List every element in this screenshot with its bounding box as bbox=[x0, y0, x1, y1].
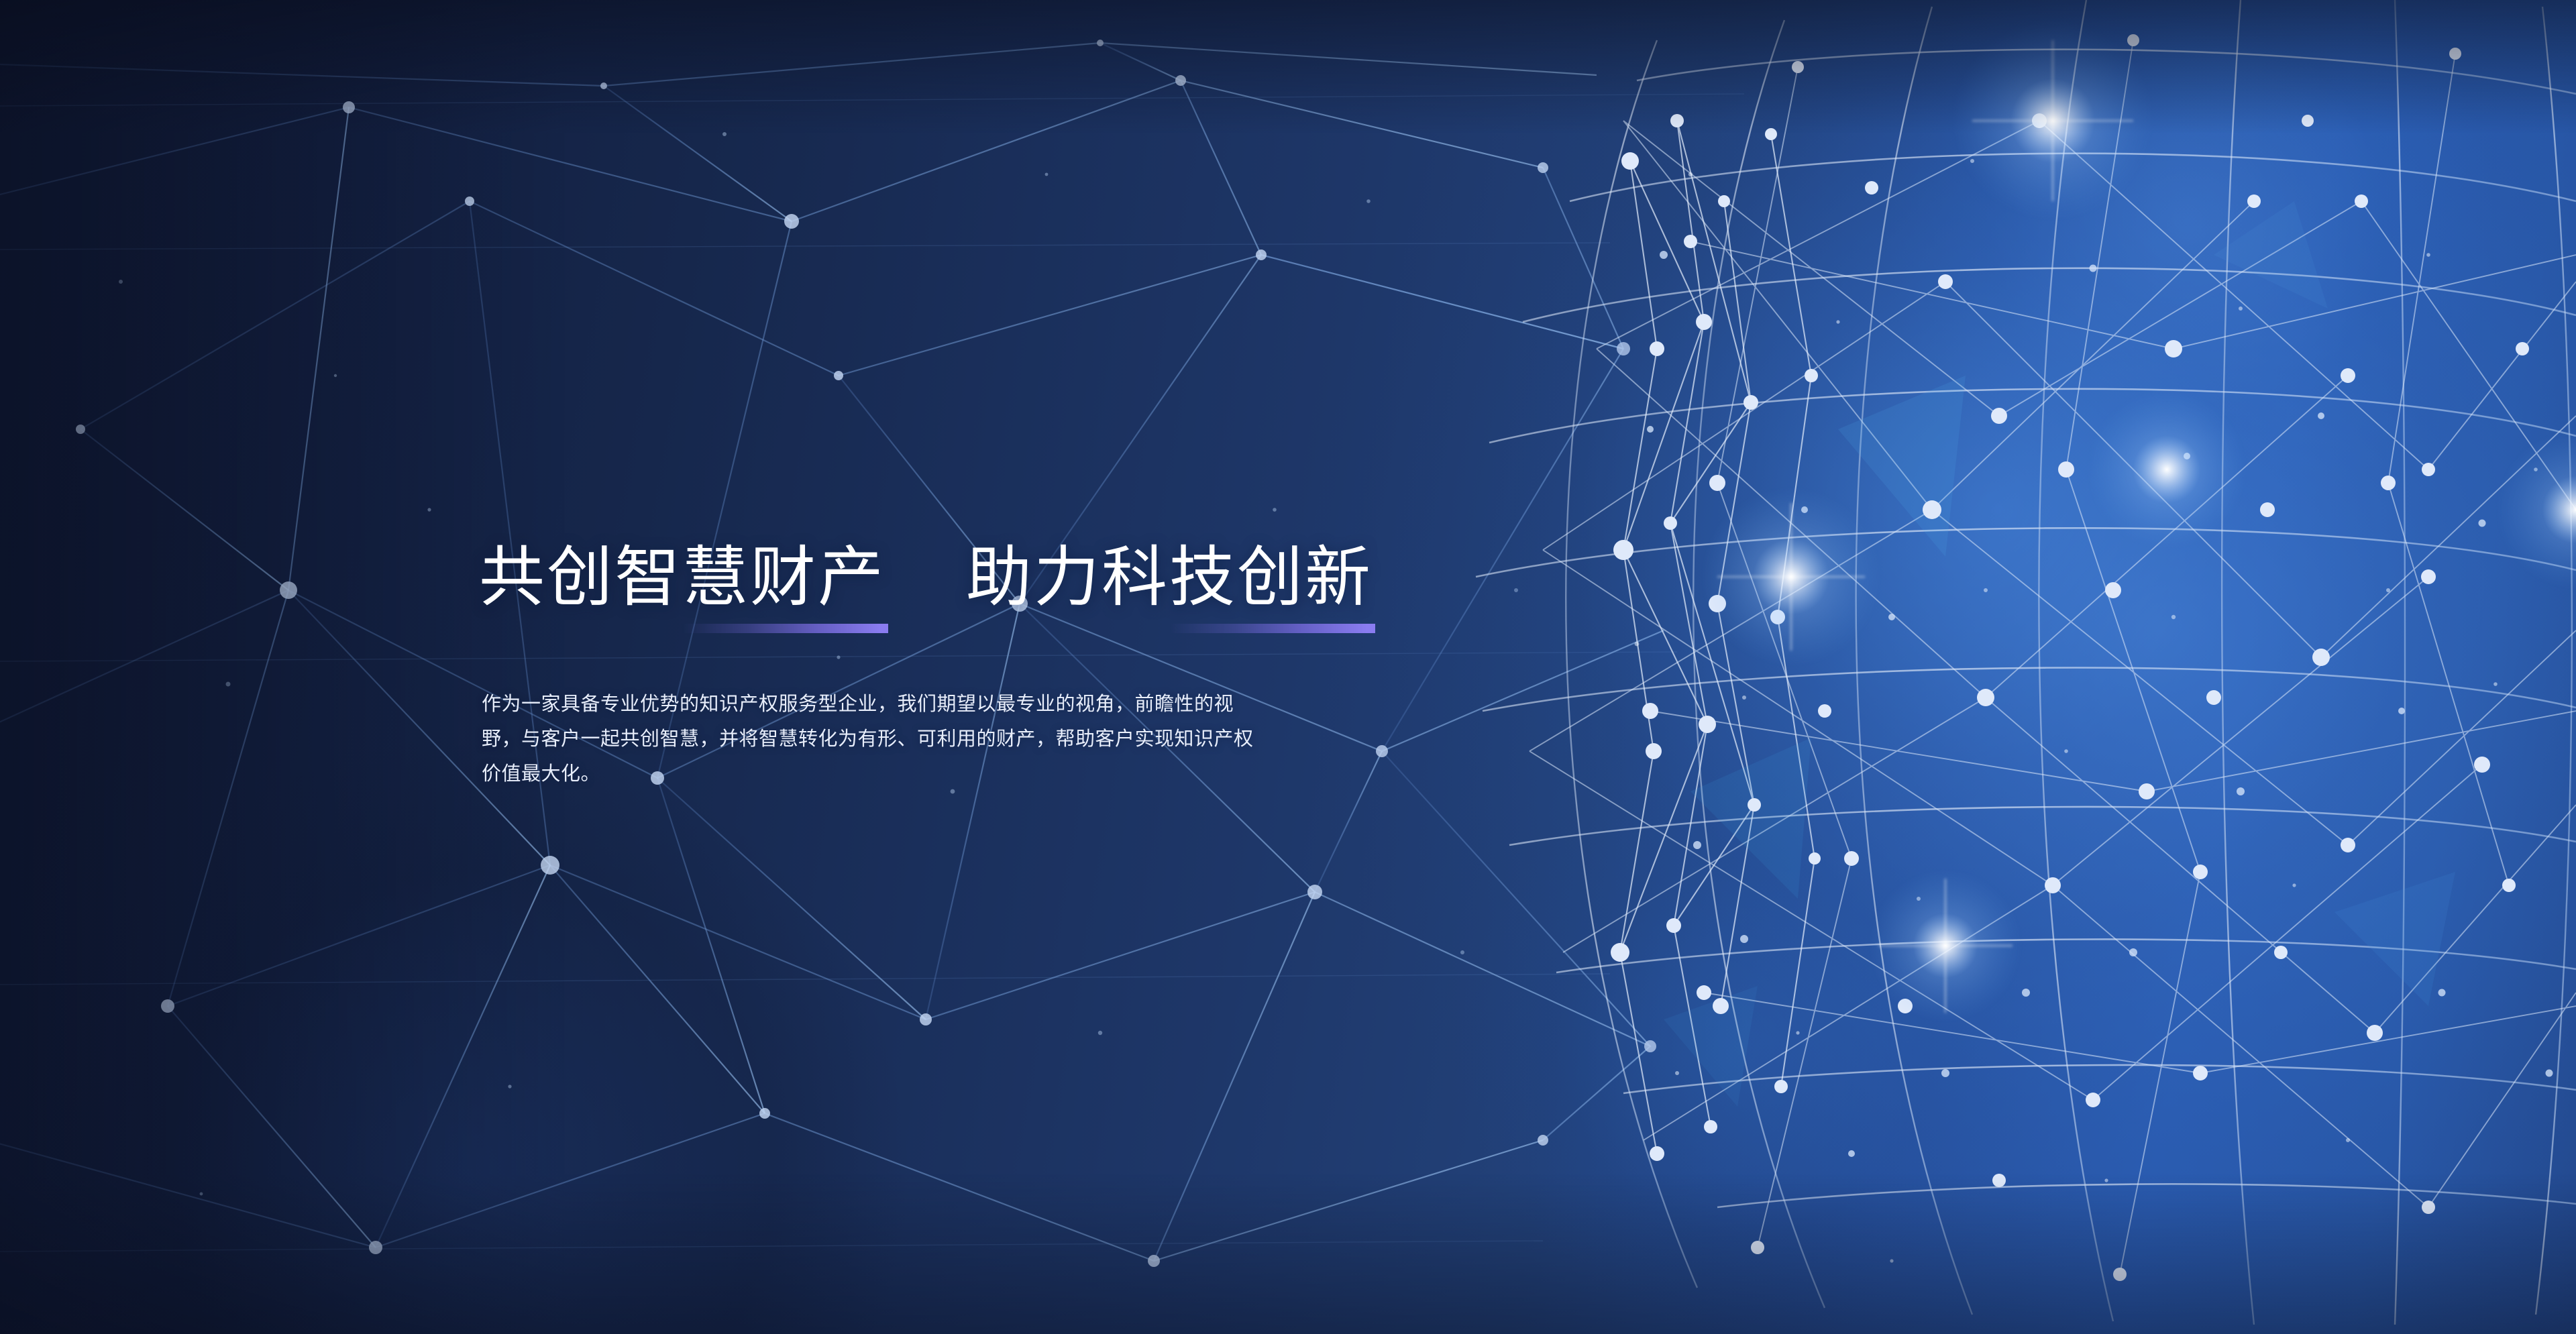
accent-underline-2 bbox=[1169, 624, 1375, 633]
hero-banner: 共创智慧财产 助力科技创新 作为一家具备专业优势的知识产权服务型企业，我们期望以… bbox=[0, 0, 2576, 1334]
headline-part-1: 共创智慧财产 bbox=[479, 541, 885, 614]
headline-text-2: 助力科技创新 bbox=[966, 541, 1373, 614]
page-title: 共创智慧财产 助力科技创新 bbox=[479, 541, 1418, 614]
accent-underline-1 bbox=[682, 624, 888, 633]
hero-description: 作为一家具备专业优势的知识产权服务型企业，我们期望以最专业的视角，前瞻性的视野，… bbox=[482, 687, 1268, 791]
hero-content: 共创智慧财产 助力科技创新 作为一家具备专业优势的知识产权服务型企业，我们期望以… bbox=[479, 541, 1418, 791]
headline-part-2: 助力科技创新 bbox=[966, 541, 1373, 614]
headline-text-1: 共创智慧财产 bbox=[479, 541, 885, 614]
